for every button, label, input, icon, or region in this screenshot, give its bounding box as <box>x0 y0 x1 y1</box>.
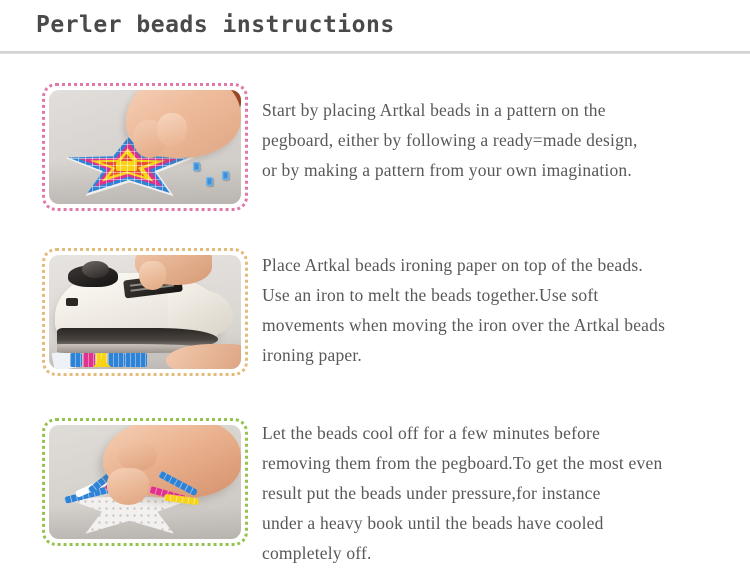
finger-shape <box>157 113 188 147</box>
header-divider <box>0 51 750 54</box>
photo-iron-melting-beads <box>49 255 241 369</box>
instruction-step: Place Artkal beads ironing paper on top … <box>0 248 750 413</box>
finger-shape <box>139 261 166 291</box>
page-title: Perler beads instructions <box>36 12 395 38</box>
bead-row <box>125 353 147 367</box>
loose-bead <box>193 162 200 171</box>
melted-bead-piece <box>70 353 147 367</box>
bead-row <box>70 353 82 367</box>
iron-button <box>66 298 78 306</box>
photo-beads-on-pegboard <box>49 90 241 204</box>
step-instruction-text: Let the beads cool off for a few minutes… <box>262 418 740 568</box>
step-photo-frame <box>42 418 248 546</box>
step-instruction-text: Place Artkal beads ironing paper on top … <box>262 250 740 370</box>
photo-removing-beads-from-pegboard <box>49 425 241 539</box>
page-header: Perler beads instructions <box>0 0 750 53</box>
instruction-step: Start by placing Artkal beads in a patte… <box>0 83 750 238</box>
step-photo-frame <box>42 83 248 211</box>
step-instruction-text: Start by placing Artkal beads in a patte… <box>262 95 740 185</box>
loose-bead <box>206 177 213 186</box>
step-photo-frame <box>42 248 248 376</box>
loose-bead <box>222 171 229 180</box>
knuckle-shape <box>118 441 156 471</box>
bead-triangle <box>93 358 111 367</box>
instruction-step: Let the beads cool off for a few minutes… <box>0 418 750 578</box>
iron-dial-knob <box>82 261 109 278</box>
thumb-shape <box>107 468 149 504</box>
